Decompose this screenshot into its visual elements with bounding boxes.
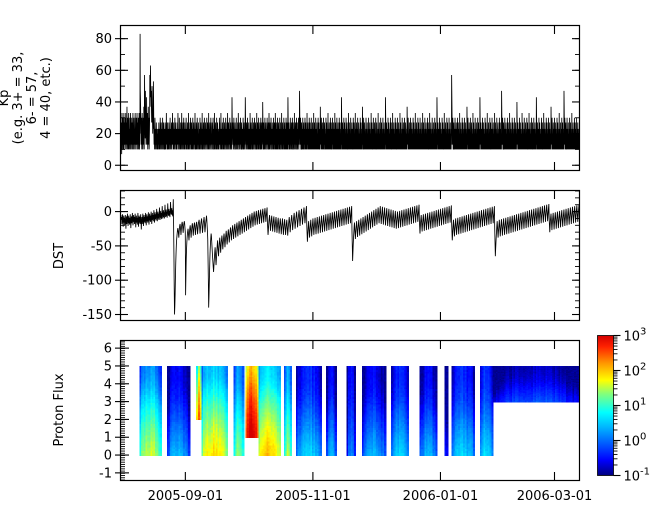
y-tick-label: -150 [82,308,112,323]
heatmap-cell [226,453,228,456]
kp-axis-label-line-2: 6- = 57, [25,72,40,125]
y-tick-label: 20 [95,127,112,142]
heatmap-cell [335,453,337,456]
heatmap-cell [320,453,322,456]
heatmap-cell [290,453,292,456]
heatmap-cell [354,453,356,456]
figure-root: 020406080 Kp (e.g. 3+ = 33, 6- = 57, 4 =… [0,0,665,523]
y-tick-label: 80 [95,32,112,47]
y-tick-label: 0 [104,205,112,220]
y-tick-label: 0 [104,159,112,174]
heatmap-cell [242,453,244,456]
kp-axis-label-line-3: 4 = 40, etc.) [39,57,54,139]
y-tick-label: -100 [82,274,112,289]
heatmap-cell [279,453,281,456]
y-tick-label: -50 [91,239,112,254]
y-tick-label: 60 [95,64,112,79]
figure-svg: 020406080 Kp (e.g. 3+ = 33, 6- = 57, 4 =… [0,0,665,523]
heatmap-cell [160,453,162,456]
kp-axis-label-line-1: (e.g. 3+ = 33, [11,52,26,145]
dst-axis-label: DST [52,243,67,269]
y-tick-label: 40 [95,95,112,110]
heatmap-cell [188,453,190,456]
